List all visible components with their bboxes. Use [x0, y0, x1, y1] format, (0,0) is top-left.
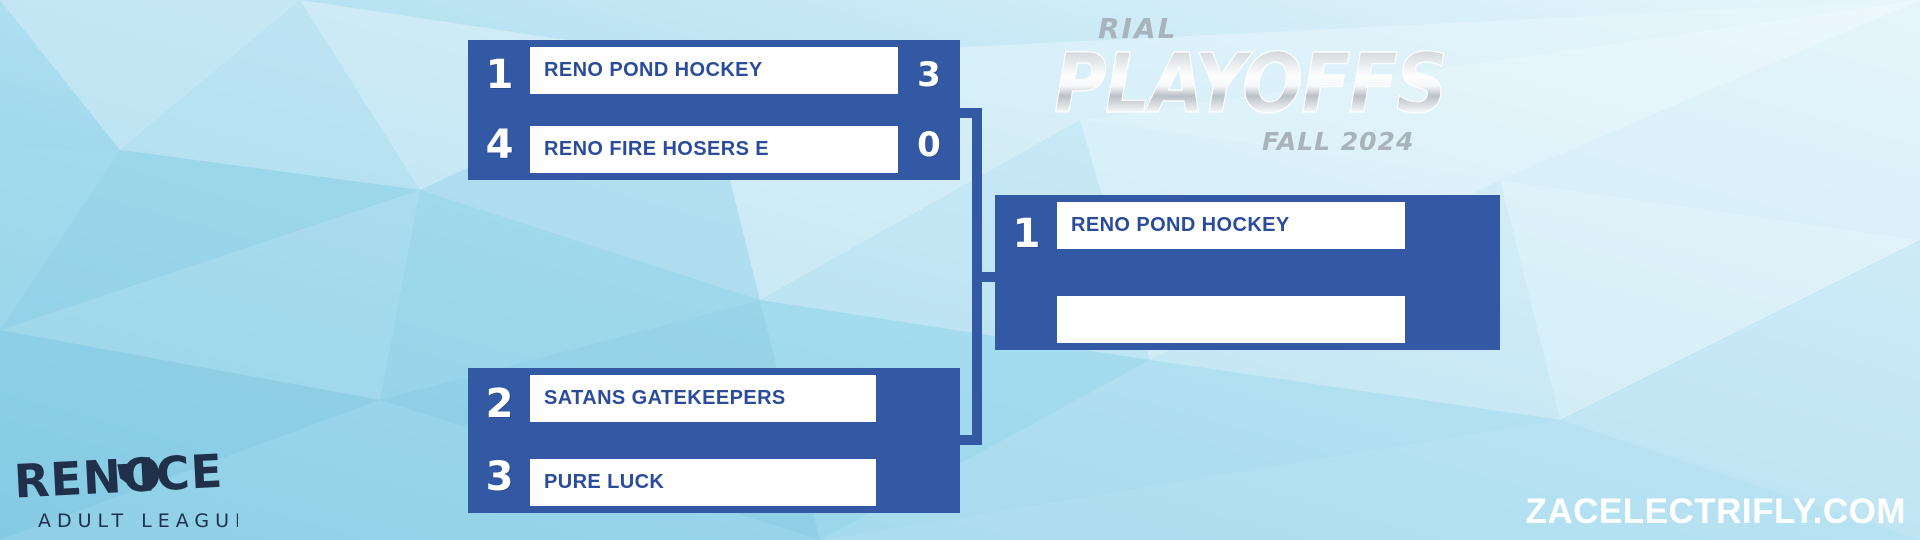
- team-column: RENO POND HOCKEY RENO FIRE HOSERS E: [530, 40, 898, 180]
- seed-column: 2 3: [468, 368, 530, 513]
- seed-number: 1: [995, 195, 1057, 273]
- playoffs-logo: RIAL PLAYOFFS FALL 2024: [1040, 4, 1460, 174]
- score-column: 3 0: [898, 40, 960, 180]
- seed-number: 1: [468, 40, 530, 110]
- score-value: 0: [898, 110, 960, 180]
- team-column: RENO POND HOCKEY: [1057, 195, 1405, 350]
- seed-number: 2: [468, 368, 530, 441]
- team-slot[interactable]: RENO POND HOCKEY: [1057, 202, 1405, 249]
- playoffs-logo-line3: FALL 2024: [1262, 127, 1414, 156]
- seed-column: 1 4: [468, 40, 530, 180]
- team-slot[interactable]: RENO FIRE HOSERS E: [530, 126, 898, 173]
- seed-number: 3: [468, 441, 530, 514]
- seed-column: 1: [995, 195, 1057, 350]
- watermark-url: ZACELECTRIFLY.COM: [1525, 492, 1906, 532]
- reno-ice-logo-subtitle: ADULT LEAGUE: [38, 510, 238, 532]
- team-slot[interactable]: RENO POND HOCKEY: [530, 47, 898, 94]
- reno-ice-logo: RENO ICE ADULT LEAGUE: [8, 430, 238, 536]
- team-slot[interactable]: SATANS GATEKEEPERS: [530, 375, 876, 422]
- playoffs-logo-line2: PLAYOFFS: [1054, 37, 1446, 132]
- match-final[interactable]: 1 RENO POND HOCKEY: [995, 195, 1500, 350]
- seed-number: 4: [468, 110, 530, 180]
- reno-ice-logo-word2: ICE: [136, 444, 224, 502]
- match-semifinal-1[interactable]: 1 4 RENO POND HOCKEY RENO FIRE HOSERS E …: [468, 40, 960, 180]
- score-value: 3: [898, 40, 960, 110]
- tournament-bracket: 1 4 RENO POND HOCKEY RENO FIRE HOSERS E …: [0, 0, 1920, 540]
- seed-number: [995, 273, 1057, 351]
- score-column-placeholder: [876, 368, 898, 513]
- match-semifinal-2[interactable]: 2 3 SATANS GATEKEEPERS PURE LUCK: [468, 368, 960, 513]
- team-slot[interactable]: PURE LUCK: [530, 459, 876, 506]
- score-column-placeholder: [1405, 195, 1427, 350]
- team-column: SATANS GATEKEEPERS PURE LUCK: [530, 368, 876, 513]
- team-slot-empty[interactable]: [1057, 296, 1405, 343]
